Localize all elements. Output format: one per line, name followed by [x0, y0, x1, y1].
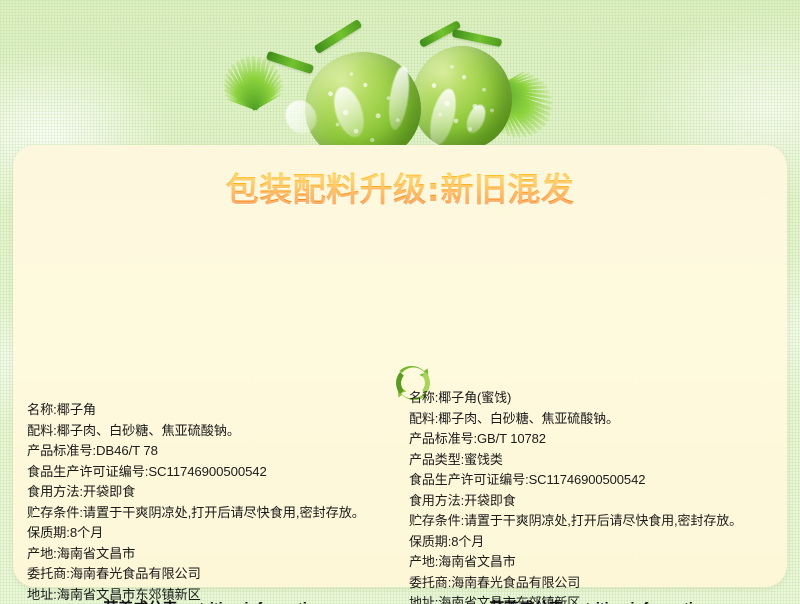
page-title: 包装配料升级:新旧混发 — [13, 163, 787, 211]
nutrition-title-cn: 营养成分表 — [489, 600, 563, 604]
water-droplets-right — [412, 46, 512, 150]
spec-line: 食品生产许可证编号:SC11746900500542 — [27, 462, 405, 483]
spec-line: 委托商:海南春光食品有限公司 — [27, 564, 405, 585]
spec-line: 保质期:8个月 — [27, 523, 405, 544]
spec-line: 配料:椰子肉、白砂糖、焦亚硫酸钠。 — [409, 409, 787, 430]
hero-banner — [0, 0, 800, 152]
nutrition-title: 营养成分表 nutrition information — [35, 597, 393, 604]
spec-line: 名称:椰子角 — [27, 400, 405, 421]
coconut-right-icon — [412, 46, 512, 150]
spec-line: 产品标准号:DB46/T 78 — [27, 441, 405, 462]
coconut-stalk-right-b — [452, 29, 503, 47]
coconut-stalk-left-a — [314, 19, 363, 54]
nutrition-title-cn: 营养成分表 — [103, 600, 177, 604]
spec-line: 贮存条件:请置于干爽阴凉处,打开后请尽快食用,密封存放。 — [409, 511, 787, 532]
spec-line: 食用方法:开袋即食 — [27, 482, 405, 503]
nutrition-title-en: nutrition information — [567, 600, 710, 604]
spec-line: 食用方法:开袋即食 — [409, 491, 787, 512]
coconut-stalk-left-b — [266, 51, 314, 74]
label-card: 包装配料升级:新旧混发 名称:椰子角 配料:椰子肉、白砂糖、焦亚硫酸钠。 产品标… — [13, 145, 787, 587]
spec-line: 委托商:海南春光食品有限公司 — [409, 573, 787, 594]
spec-line: 配料:椰子肉、白砂糖、焦亚硫酸钠。 — [27, 421, 405, 442]
spec-line: 产品标准号:GB/T 10782 — [409, 429, 787, 450]
spec-line: 产品类型:蜜饯类 — [409, 450, 787, 471]
nutrition-title-en: nutrition information — [181, 600, 324, 604]
spec-line: 产地:海南省文昌市 — [409, 552, 787, 573]
spec-line: 名称:椰子角(蜜饯) — [409, 388, 787, 409]
nutrition-title: 营养成分表 nutrition information — [421, 597, 779, 604]
spec-line: 保质期:8个月 — [409, 532, 787, 553]
nutrition-table-left: 营养成分表 nutrition information 项目/Items 每10… — [35, 597, 393, 604]
spec-column-left: 名称:椰子角 配料:椰子肉、白砂糖、焦亚硫酸钠。 产品标准号:DB46/T 78… — [27, 400, 405, 604]
spec-line: 食品生产许可证编号:SC11746900500542 — [409, 470, 787, 491]
spec-line: 产地:海南省文昌市 — [27, 544, 405, 565]
spec-line: 贮存条件:请置于干爽阴凉处,打开后请尽快食用,密封存放。 — [27, 503, 405, 524]
spec-column-right: 名称:椰子角(蜜饯) 配料:椰子肉、白砂糖、焦亚硫酸钠。 产品标准号:GB/T … — [409, 388, 787, 604]
nutrition-table-right: 营养成分表 nutrition information 项目/Items 每10… — [421, 597, 779, 604]
